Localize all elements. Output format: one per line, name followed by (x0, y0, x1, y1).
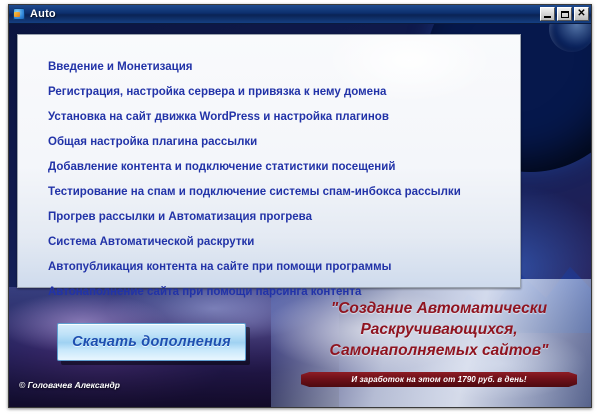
list-item[interactable]: Тестирование на спам и подключение систе… (48, 180, 506, 205)
download-addons-label: Скачать дополнения (72, 334, 231, 350)
app-globe-icon (13, 8, 25, 20)
maximize-button[interactable] (557, 7, 572, 21)
wallpaper-backdrop: Введение и Монетизация Регистрация, наст… (9, 24, 591, 407)
list-item[interactable]: Регистрация, настройка сервера и привязк… (48, 80, 506, 105)
download-addons-button[interactable]: Скачать дополнения (57, 323, 246, 361)
promo-headline-line: Раскручивающихся, (293, 319, 585, 340)
promo-headline-line: Самонаполняемых сайтов" (293, 340, 585, 361)
list-item[interactable]: Введение и Монетизация (48, 55, 506, 80)
list-item[interactable]: Добавление контента и подключение статис… (48, 155, 506, 180)
lesson-panel: Введение и Монетизация Регистрация, наст… (17, 34, 521, 288)
promo-headline: "Создание Автоматически Раскручивающихся… (293, 298, 585, 361)
list-item[interactable]: Прогрев рассылки и Автоматизация прогрев… (48, 205, 506, 230)
planet-crater-icon (549, 24, 591, 52)
close-icon: ✕ (577, 9, 585, 19)
list-item[interactable]: Установка на сайт движка WordPress и нас… (48, 105, 506, 130)
list-item[interactable]: Система Автоматической раскрутки (48, 230, 506, 255)
list-item[interactable]: Автопубликация контента на сайте при пом… (48, 255, 506, 280)
close-button[interactable]: ✕ (574, 7, 589, 21)
lesson-list: Введение и Монетизация Регистрация, наст… (48, 55, 506, 305)
promo-ribbon-label: И заработок на этом от 1790 руб. в день! (351, 375, 526, 384)
copyright-text: © Головачев Александр (19, 380, 120, 390)
promo-ribbon: И заработок на этом от 1790 руб. в день! (301, 372, 577, 387)
window-controls: ✕ (540, 7, 589, 21)
promo-headline-line: "Создание Автоматически (293, 298, 585, 319)
window-title: Auto (30, 8, 56, 20)
minimize-button[interactable] (540, 7, 555, 21)
title-bar[interactable]: Auto ✕ (9, 5, 591, 24)
list-item[interactable]: Общая настройка плагина рассылки (48, 130, 506, 155)
application-window: Auto ✕ Введение и Монетизация Регистраци… (8, 4, 592, 408)
